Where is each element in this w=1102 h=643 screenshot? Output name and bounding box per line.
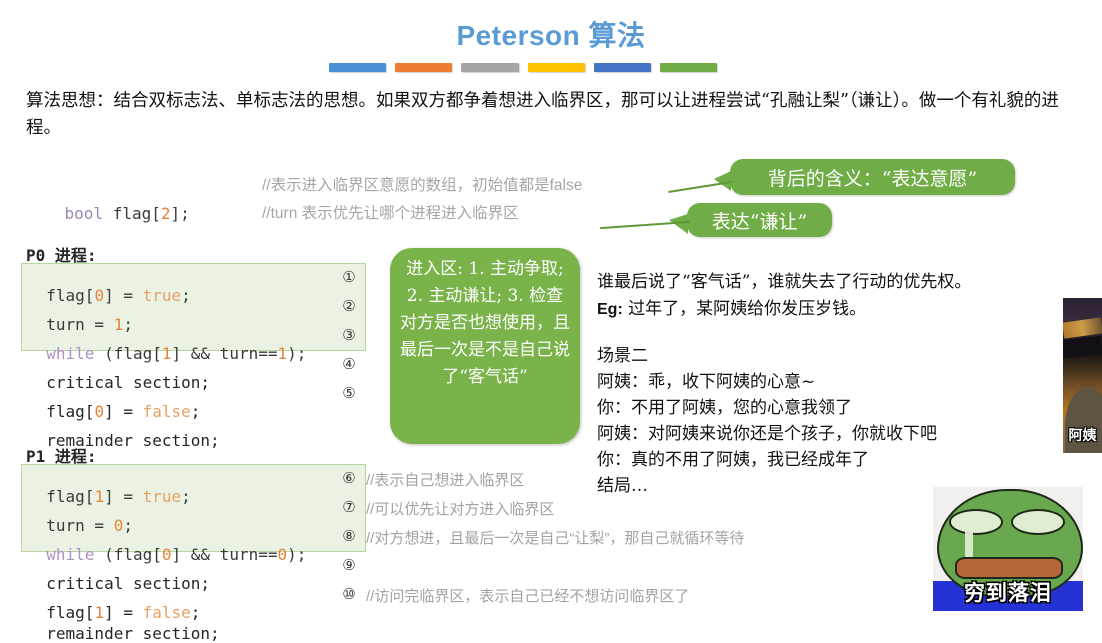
pepe-eye-right — [1011, 509, 1065, 535]
divider-segment-6 — [660, 63, 717, 72]
meaning-bubble-label: 背后的含义：“表达意愿” — [768, 164, 977, 191]
p1-marker-2: ⑧ — [338, 527, 360, 545]
pepe-mouth — [955, 557, 1063, 579]
modesty-bubble-label: 表达“谦让” — [712, 207, 807, 234]
auntie-photo-caption: 阿姨 — [1063, 425, 1102, 445]
pepe-tear — [965, 527, 973, 559]
pepe-eye-left — [949, 509, 1003, 535]
p1-marker-0: ⑥ — [338, 469, 360, 487]
p0-marker-2: ③ — [338, 326, 360, 344]
auntie-photo-shadow — [1063, 336, 1102, 359]
right-example-line: Eg: 过年了，某阿姨给你发压岁钱。 — [597, 294, 866, 319]
p0-marker-0: ① — [338, 268, 360, 286]
divider-segment-1 — [329, 63, 386, 72]
p1-comment-2: //对方想进，且最后一次是自己“让梨”，那自己就循环等待 — [366, 527, 744, 548]
divider-segment-5 — [594, 63, 651, 72]
dialogue-line-0: 阿姨：乖，收下阿姨的心意~ — [597, 367, 815, 392]
declaration-comments: //表示进入临界区意愿的数组，初始值都是false //turn 表示优先让哪个… — [262, 172, 582, 228]
right-headline: 谁最后说了“客气话”，谁就失去了行动的优先权。 — [597, 267, 971, 292]
pepe-meme-caption: 穷到落泪 — [933, 577, 1083, 607]
p0-marker-4: ⑤ — [338, 384, 360, 402]
title-divider-bar — [329, 63, 717, 72]
decl-comment-0: //表示进入临界区意愿的数组，初始值都是false — [262, 172, 582, 200]
divider-segment-2 — [395, 63, 452, 72]
decl-comment-1: //turn 表示优先让哪个进程进入临界区 — [262, 200, 582, 228]
p1-comment-0: //表示自己想进入临界区 — [366, 469, 524, 490]
p1-marker-4: ⑩ — [338, 585, 360, 603]
eg-prefix: Eg: — [597, 301, 623, 318]
p1-code-line-5: remainder section; — [27, 605, 220, 643]
enter-section-callout: 进入区: 1. 主动争取; 2. 主动谦让; 3. 检查对方是否也想使用，且最后… — [390, 248, 580, 444]
ending-text: 结局… — [597, 471, 648, 496]
p0-marker-3: ④ — [338, 355, 360, 373]
p1-marker-3: ⑨ — [338, 556, 360, 574]
divider-segment-3 — [461, 63, 518, 72]
p1-comment-4: //访问完临界区，表示自己已经不想访问临界区了 — [366, 585, 689, 606]
p1-comment-1: //可以优先让对方进入临界区 — [366, 498, 554, 519]
page-title: Peterson 算法 — [0, 14, 1102, 54]
meaning-bubble: 背后的含义：“表达意愿” — [730, 159, 1015, 195]
p1-marker-1: ⑦ — [338, 498, 360, 516]
scene-title: 场景二 — [597, 341, 648, 366]
modesty-bubble: 表达“谦让” — [687, 203, 832, 237]
eg-text: 过年了，某阿姨给你发压岁钱。 — [623, 299, 866, 319]
dialogue-line-1: 你：不用了阿姨，您的心意我领了 — [597, 393, 852, 418]
divider-segment-4 — [528, 63, 585, 72]
dialogue-line-3: 你：真的不用了阿姨，我已经成年了 — [597, 445, 869, 470]
intro-paragraph: 算法思想：结合双标志法、单标志法的思想。如果双方都争着想进入临界区，那可以让进程… — [26, 88, 1082, 142]
p0-marker-1: ② — [338, 297, 360, 315]
dialogue-line-2: 阿姨：对阿姨来说你还是个孩子，你就收下吧 — [597, 419, 937, 444]
